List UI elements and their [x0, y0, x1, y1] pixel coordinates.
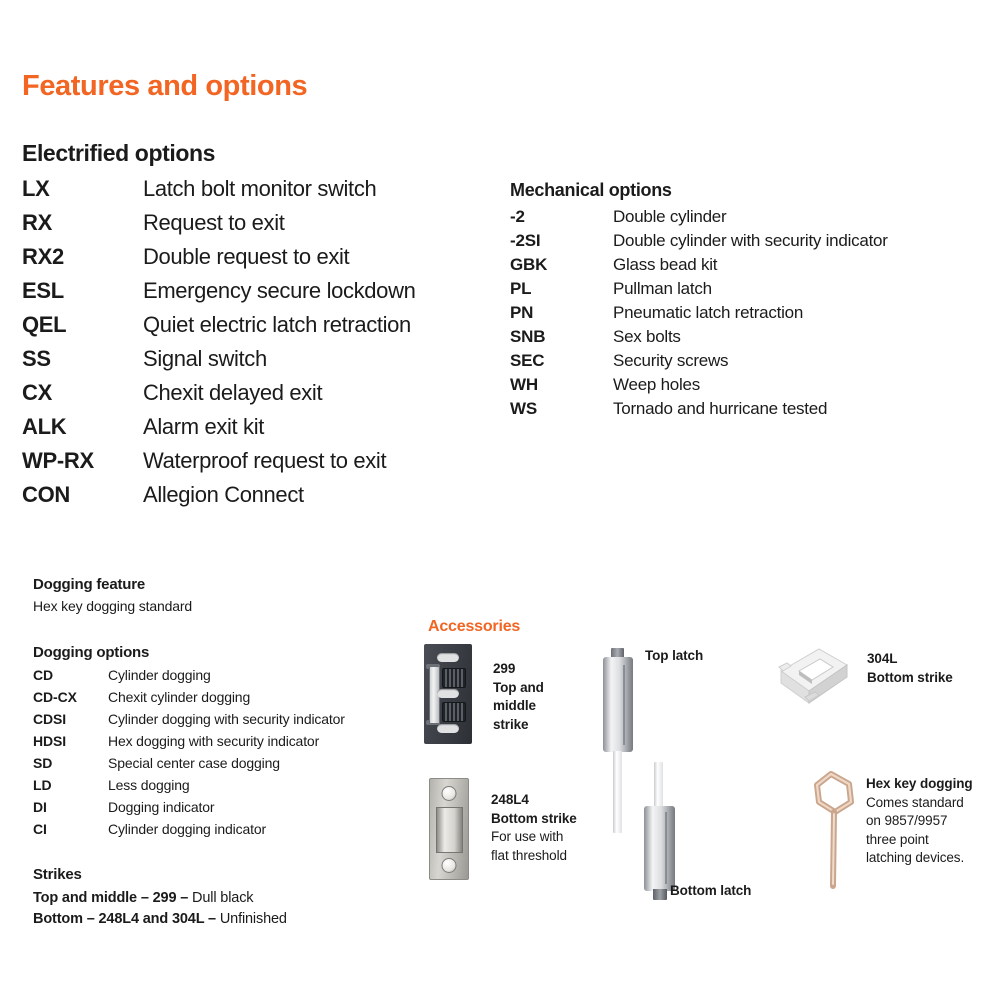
option-desc: Double cylinder with security indicator — [613, 231, 888, 251]
strike-304l-caption: 304L Bottom strike — [867, 650, 987, 687]
dogging-feature-heading: Dogging feature — [33, 576, 413, 593]
bottom-latch-label: Bottom latch — [670, 883, 751, 898]
option-code: CON — [22, 482, 143, 508]
hex-key-svg — [805, 768, 867, 890]
hex-key-title: Hex key dogging — [866, 775, 990, 794]
top-latch-image — [597, 648, 639, 833]
hex-key-image — [805, 768, 867, 890]
option-desc: Weep holes — [613, 375, 700, 395]
option-desc: Tornado and hurricane tested — [613, 399, 827, 419]
option-code: LD — [33, 777, 108, 793]
option-desc: Cylinder dogging indicator — [108, 821, 266, 837]
accessories-heading: Accessories — [428, 618, 520, 636]
option-row: GBK Glass bead kit — [510, 255, 990, 279]
option-code: ESL — [22, 278, 143, 304]
strike-248l4-sub-3: flat threshold — [491, 847, 621, 866]
option-row: WS Tornado and hurricane tested — [510, 399, 990, 423]
document-page: Features and options Electrified options… — [0, 0, 1000, 1000]
hex-key-sub-2: on 9857/9957 — [866, 812, 990, 831]
strikes-line-bottom-bold: Bottom – 248L4 and 304L – — [33, 911, 220, 927]
strike-299-sub-2: middle — [493, 697, 573, 716]
strike-299-image — [424, 644, 472, 744]
strike-304l-image — [775, 645, 853, 717]
option-code: PN — [510, 303, 613, 323]
dogging-options-heading: Dogging options — [33, 644, 423, 661]
option-code: SS — [22, 346, 143, 372]
option-row: HDSI Hex dogging with security indicator — [33, 733, 423, 755]
option-code: CX — [22, 380, 143, 406]
option-code: CD — [33, 667, 108, 683]
strike-248l4-image — [429, 778, 469, 880]
option-code: PL — [510, 279, 613, 299]
option-desc: Double request to exit — [143, 244, 349, 270]
option-code: SNB — [510, 327, 613, 347]
option-row: ESL Emergency secure lockdown — [22, 278, 492, 312]
option-code: QEL — [22, 312, 143, 338]
latch-bolt — [653, 889, 667, 900]
top-latch-label: Top latch — [645, 648, 703, 663]
option-code: HDSI — [33, 733, 108, 749]
hex-key-sub-1: Comes standard — [866, 794, 990, 813]
option-desc: Latch bolt monitor switch — [143, 176, 376, 202]
option-desc: Double cylinder — [613, 207, 726, 227]
strike-window — [436, 807, 463, 853]
strikes-line-top-middle: Top and middle – 299 – Dull black — [33, 888, 433, 909]
latch-housing — [603, 657, 633, 752]
option-desc: Alarm exit kit — [143, 414, 264, 440]
strike-slot — [437, 653, 459, 662]
option-row: DI Dogging indicator — [33, 799, 423, 821]
option-code: CI — [33, 821, 108, 837]
option-row: SD Special center case dogging — [33, 755, 423, 777]
strikes-line-bottom: Bottom – 248L4 and 304L – Unfinished — [33, 909, 433, 930]
option-desc: Chexit delayed exit — [143, 380, 322, 406]
strike-304l-sub-1: Bottom strike — [867, 669, 987, 688]
electrified-options-heading: Electrified options — [22, 140, 492, 167]
option-desc: Less dogging — [108, 777, 190, 793]
option-row: CD Cylinder dogging — [33, 667, 423, 689]
mechanical-options-section: Mechanical options -2 Double cylinder -2… — [510, 180, 990, 423]
option-desc: Pullman latch — [613, 279, 712, 299]
option-desc: Emergency secure lockdown — [143, 278, 416, 304]
option-code: DI — [33, 799, 108, 815]
strike-screw-hole — [442, 858, 457, 873]
option-code: LX — [22, 176, 143, 202]
option-desc: Allegion Connect — [143, 482, 304, 508]
strikes-heading: Strikes — [33, 866, 433, 883]
option-desc: Request to exit — [143, 210, 285, 236]
option-row: CI Cylinder dogging indicator — [33, 821, 423, 843]
strike-grille — [442, 668, 466, 688]
strike-299-caption: 299 Top and middle strike — [493, 660, 573, 734]
dogging-options-section: Dogging options CD Cylinder dogging CD-C… — [33, 644, 423, 843]
option-row: WH Weep holes — [510, 375, 990, 399]
option-row: -2SI Double cylinder with security indic… — [510, 231, 990, 255]
option-row: SEC Security screws — [510, 351, 990, 375]
electrified-options-section: Electrified options LX Latch bolt monito… — [22, 140, 492, 516]
option-desc: Sex bolts — [613, 327, 681, 347]
option-code: -2SI — [510, 231, 613, 251]
latch-rod — [654, 762, 663, 812]
strike-299-sub-1: Top and — [493, 679, 573, 698]
option-code: CD-CX — [33, 689, 108, 705]
option-row: PL Pullman latch — [510, 279, 990, 303]
option-code: RX2 — [22, 244, 143, 270]
option-desc: Dogging indicator — [108, 799, 214, 815]
strikes-line-top-middle-bold: Top and middle – 299 – — [33, 890, 192, 906]
option-row: RX Request to exit — [22, 210, 492, 244]
option-code: WS — [510, 399, 613, 419]
strike-slot — [437, 689, 459, 698]
option-row: SNB Sex bolts — [510, 327, 990, 351]
option-row: CD-CX Chexit cylinder dogging — [33, 689, 423, 711]
dogging-feature-section: Dogging feature Hex key dogging standard — [33, 576, 413, 614]
strike-299-sub-3: strike — [493, 716, 573, 735]
strike-304l-svg — [775, 645, 853, 717]
option-row: PN Pneumatic latch retraction — [510, 303, 990, 327]
option-row: WP-RX Waterproof request to exit — [22, 448, 492, 482]
strikes-line-bottom-finish: Unfinished — [220, 911, 287, 927]
option-desc: Cylinder dogging — [108, 667, 211, 683]
option-desc: Special center case dogging — [108, 755, 280, 771]
option-row: SS Signal switch — [22, 346, 492, 380]
page-title: Features and options — [22, 70, 307, 103]
option-desc: Waterproof request to exit — [143, 448, 386, 474]
latch-housing — [644, 806, 675, 891]
option-code: ALK — [22, 414, 143, 440]
option-row: QEL Quiet electric latch retraction — [22, 312, 492, 346]
strike-299-title: 299 — [493, 660, 573, 679]
latch-rod — [613, 751, 622, 833]
option-row: LD Less dogging — [33, 777, 423, 799]
dogging-feature-note: Hex key dogging standard — [33, 598, 413, 614]
mechanical-options-heading: Mechanical options — [510, 180, 990, 201]
hex-key-sub-3: three point — [866, 831, 990, 850]
bottom-latch-image — [639, 762, 681, 902]
option-row: -2 Double cylinder — [510, 207, 990, 231]
strike-slot — [437, 724, 459, 733]
option-desc: Glass bead kit — [613, 255, 717, 275]
option-desc: Security screws — [613, 351, 728, 371]
option-row: CX Chexit delayed exit — [22, 380, 492, 414]
option-code: WH — [510, 375, 613, 395]
option-row: ALK Alarm exit kit — [22, 414, 492, 448]
option-code: RX — [22, 210, 143, 236]
strikes-line-top-middle-finish: Dull black — [192, 890, 253, 906]
option-desc: Pneumatic latch retraction — [613, 303, 803, 323]
strike-304l-title: 304L — [867, 650, 987, 669]
hex-key-caption: Hex key dogging Comes standard on 9857/9… — [866, 775, 990, 868]
option-row: LX Latch bolt monitor switch — [22, 176, 492, 210]
option-code: SEC — [510, 351, 613, 371]
option-desc: Quiet electric latch retraction — [143, 312, 411, 338]
strike-screw-hole — [442, 786, 457, 801]
strike-grille — [442, 702, 466, 722]
option-desc: Cylinder dogging with security indicator — [108, 711, 345, 727]
hex-key-sub-4: latching devices. — [866, 849, 990, 868]
option-code: SD — [33, 755, 108, 771]
option-code: -2 — [510, 207, 613, 227]
strikes-section: Strikes Top and middle – 299 – Dull blac… — [33, 866, 433, 930]
option-row: CON Allegion Connect — [22, 482, 492, 516]
option-code: WP-RX — [22, 448, 143, 474]
option-code: CDSI — [33, 711, 108, 727]
option-row: RX2 Double request to exit — [22, 244, 492, 278]
option-desc: Hex dogging with security indicator — [108, 733, 319, 749]
option-code: GBK — [510, 255, 613, 275]
option-desc: Chexit cylinder dogging — [108, 689, 250, 705]
option-row: CDSI Cylinder dogging with security indi… — [33, 711, 423, 733]
option-desc: Signal switch — [143, 346, 267, 372]
